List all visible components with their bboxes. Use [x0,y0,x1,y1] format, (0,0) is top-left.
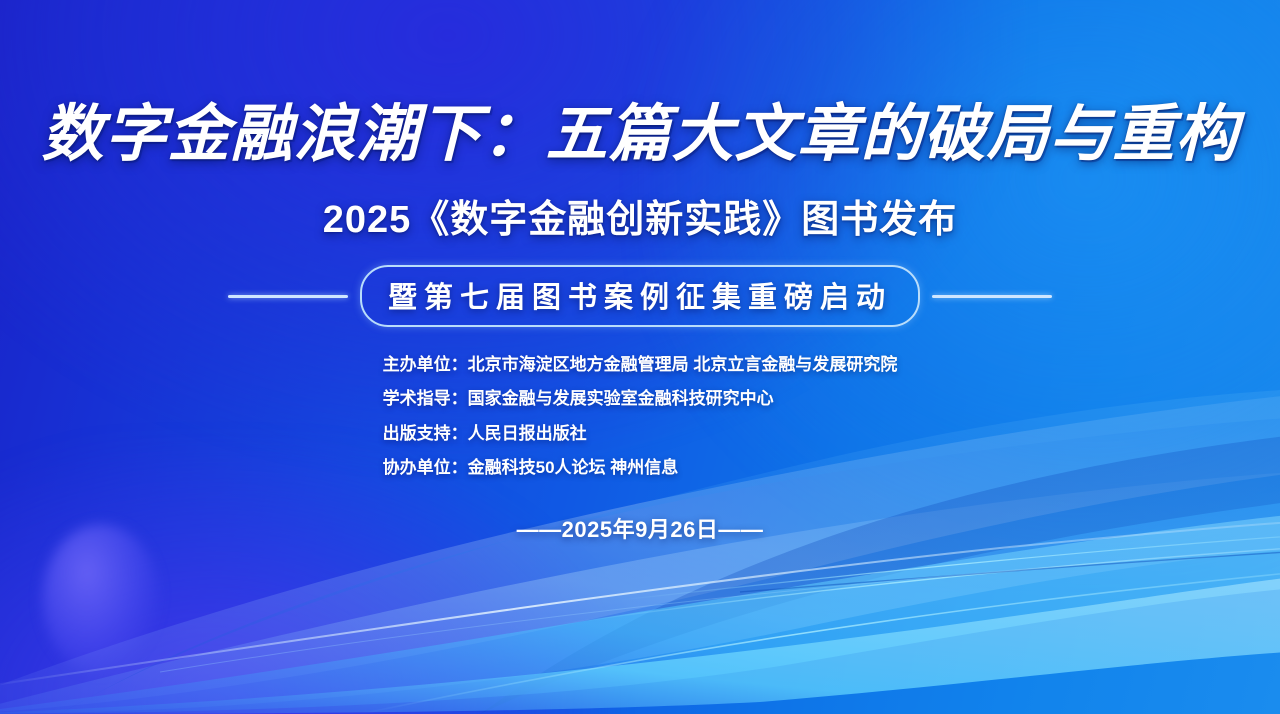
event-poster: 数字金融浪潮下：五篇大文章的破局与重构 2025《数字金融创新实践》图书发布 暨… [0,0,1280,714]
event-date: ——2025年9月26日—— [517,512,764,544]
poster-subtitle: 2025《数字金融创新实践》图书发布 [323,188,958,243]
highlight-pill-label: 暨第七届图书案例征集重磅启动 [388,274,892,316]
event-date-label: ——2025年9月26日—— [517,512,764,544]
page-title: 数字金融浪潮下：五篇大文章的破局与重构 [41,104,1238,166]
organizer-line-cohost: 协办单位：金融科技50人论坛 神州信息 [383,452,898,483]
poster-content: 数字金融浪潮下：五篇大文章的破局与重构 2025《数字金融创新实践》图书发布 暨… [0,0,1280,714]
organizer-list: 主办单位：北京市海淀区地方金融管理局 北京立言金融与发展研究院 学术指导：国家金… [383,349,898,484]
organizer-line-publisher: 出版支持：人民日报出版社 [383,418,898,449]
rule-right [932,295,1052,298]
organizer-line-academic: 学术指导：国家金融与发展实验室金融科技研究中心 [383,383,898,414]
organizer-line-host: 主办单位：北京市海淀区地方金融管理局 北京立言金融与发展研究院 [383,349,898,380]
highlight-pill: 暨第七届图书案例征集重磅启动 [360,265,920,327]
rule-left [228,295,348,298]
highlight-banner: 暨第七届图书案例征集重磅启动 [228,265,1052,327]
